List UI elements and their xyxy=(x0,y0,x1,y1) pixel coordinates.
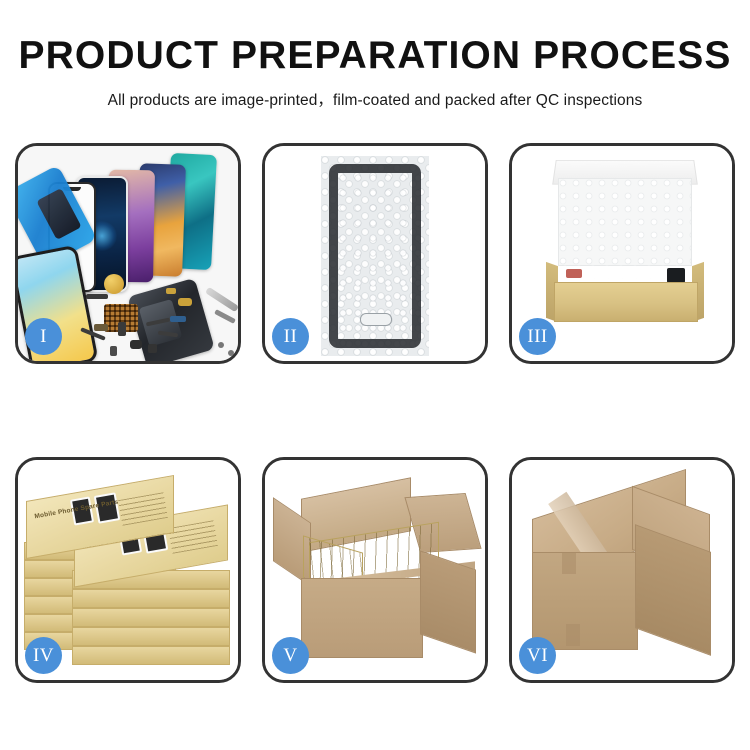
screw-icon xyxy=(218,342,224,348)
carton-crease xyxy=(562,552,576,574)
part-chip xyxy=(170,316,186,322)
process-step-6[interactable]: VI xyxy=(509,457,735,683)
process-step-2[interactable]: II xyxy=(262,143,488,364)
box-front-wall xyxy=(554,282,698,322)
process-step-1[interactable]: I xyxy=(15,143,241,364)
carton-right-face xyxy=(420,550,476,653)
stacked-box xyxy=(72,646,230,665)
step-badge-3: III xyxy=(519,318,556,355)
process-grid: I II III xyxy=(0,0,750,750)
part-chip xyxy=(94,324,108,331)
carton-front-face xyxy=(532,552,638,650)
stacked-box xyxy=(72,589,230,608)
step-badge-6: VI xyxy=(519,637,556,674)
stacked-box xyxy=(72,608,230,627)
part-chip xyxy=(118,322,126,336)
box-stack: Mobile Phone Spare Parts Mobile Phone Sp… xyxy=(24,476,238,666)
part-chip xyxy=(166,288,176,294)
carton-front-face xyxy=(301,578,423,658)
part-chip xyxy=(148,344,157,353)
bubble-wrap-sheet xyxy=(321,156,429,356)
part-chip xyxy=(178,298,192,306)
part-chip xyxy=(86,294,108,299)
process-step-5[interactable]: V xyxy=(262,457,488,683)
process-step-3[interactable]: III xyxy=(509,143,735,364)
process-step-4[interactable]: Mobile Phone Spare Parts Mobile Phone Sp… xyxy=(15,457,241,683)
step-badge-4: IV xyxy=(25,637,62,674)
step-badge-5: V xyxy=(272,637,309,674)
page-root: PRODUCT PREPARATION PROCESS All products… xyxy=(0,0,750,750)
speaker-module-icon xyxy=(104,274,124,294)
screw-icon xyxy=(228,350,234,356)
step-badge-2: II xyxy=(272,318,309,355)
stacked-box xyxy=(72,627,230,646)
carton-crease xyxy=(566,624,580,646)
home-button-icon xyxy=(360,313,392,326)
part-chip xyxy=(110,346,117,356)
screen-frame xyxy=(329,164,421,348)
foam-padding xyxy=(558,178,692,266)
part-chip xyxy=(214,309,236,324)
step-badge-1: I xyxy=(25,318,62,355)
tweezers-icon xyxy=(205,287,238,312)
part-chip xyxy=(130,340,142,349)
